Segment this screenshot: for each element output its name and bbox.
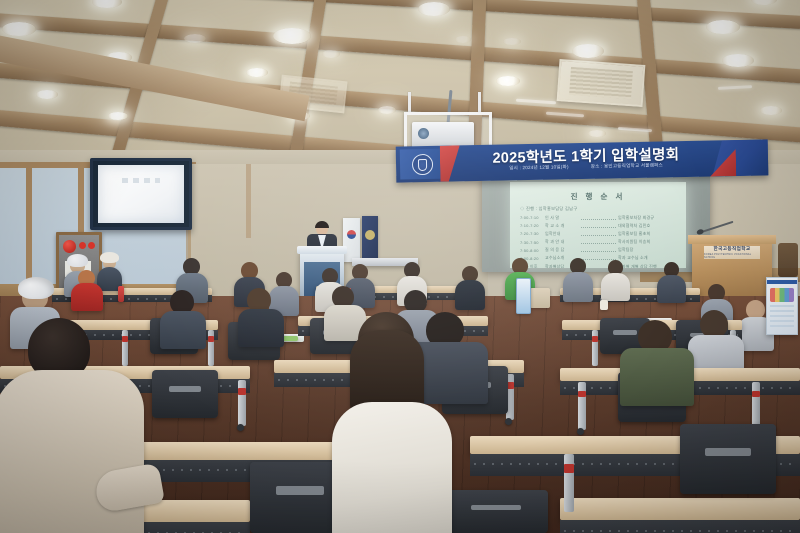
attendee-hat [18,277,54,299]
agenda-item: 학 과 안 내 [545,239,579,245]
desk-leg [122,330,128,366]
ceiling [0,0,800,160]
agenda-time: 7:30-7:50 [520,240,545,245]
leg-accent [122,336,128,341]
chair-handle-slot [471,505,521,510]
alarm-button[interactable] [88,242,95,249]
alarm-button[interactable] [79,242,86,249]
wall-trim-vertical [246,164,251,238]
agenda-row: 7:20-7:30 입학안내 입학홍보팀 홍초희 [520,231,678,237]
agenda-presenter: 학과 교수님 소개 [618,255,678,261]
crest-seal [411,153,432,174]
agenda-presenter: 입학홍보팀 홍초희 [618,231,678,237]
attendee-body [620,348,694,406]
korean-flag [343,218,360,262]
podium-top [688,235,776,244]
banner-date: 일시 : 2024년 12월 10일(화) [509,164,569,171]
banner-graphic [770,288,794,302]
promotional-box [516,278,531,314]
projector-rod [478,92,481,114]
recessed-downlight [184,34,206,43]
recessed-downlight [2,22,36,36]
recessed-downlight [322,50,340,58]
desk-leg [238,380,246,426]
attendee-body [455,280,485,310]
agenda-dots [581,216,616,220]
agenda-item: 질 의 응 답 [545,247,579,253]
ceiling-light-strip [718,85,752,90]
agenda-dots [581,240,616,244]
attendee-body [71,283,103,311]
wooden-podium: 한국고등직업학교 KOREA POLYTECHNIC VOCATIONAL SC… [692,240,772,298]
leg-accent [578,391,586,398]
desk-caster [237,424,244,431]
school-flag [362,216,378,262]
recessed-downlight [108,112,128,120]
recessed-downlight [706,20,740,34]
desk-leg [564,454,574,512]
chair [680,424,776,494]
leg-accent [592,336,598,341]
agenda-presenter: 대외협력처 김민호 [618,223,678,229]
chair-handle-slot [169,386,201,392]
agenda-row: 7:00-7:10 인 사 말 입학홍보처장 최경규 [520,215,678,221]
recessed-downlight [246,68,268,77]
chair-handle-slot [276,486,324,495]
attendee-head [700,310,728,338]
agenda-row: 7:10-7:20 학 교 소 개 대외협력처 김민호 [520,223,678,229]
chair-back [152,370,218,418]
attendee-hat [67,254,88,267]
banner-place: 장소 : 용인고등직업학교 서울캠퍼스 [591,162,663,169]
ceiling-light-strip [516,99,556,105]
agenda-item: 인 사 말 [545,215,579,221]
agenda-header: ◇ 진행 : 입학홍보담당 김남구 [520,206,678,212]
attendee-body [563,272,593,302]
recessed-downlight [722,54,754,67]
desk-caster [577,428,584,435]
agenda-row: 7:30-7:50 학 과 안 내 학사지원팀 이승희 [520,239,678,245]
event-banner: 2025학년도 1학기 입학설명회 일시 : 2024년 12월 10일(화) … [396,139,769,182]
water-bottle [118,286,124,302]
agenda-row: 8:00-8:20 교수님소개 학과 교수님 소개 [520,255,678,261]
ceiling-ac-unit [557,59,646,107]
recessed-downlight [418,2,450,16]
agenda-dots [581,256,616,260]
agenda-row: 8:20 이후 학과별상담 학과별 개별 상담 진행 [520,264,678,268]
recessed-downlight [503,38,521,45]
display-screen [98,165,184,223]
alarm-bell-icon [63,240,76,253]
paper-cup [600,300,608,310]
attendee-body [238,309,284,347]
agenda-presenter: 입학홍보처장 최경규 [618,215,678,221]
agenda-row: 7:50-8:00 질 의 응 답 입학팀장 [520,247,678,253]
chair [444,490,548,533]
presenter-hair [315,221,329,228]
paper-bag [530,288,550,308]
recessed-downlight [751,0,777,5]
agenda-item: 학 교 소 개 [545,223,579,229]
desk-apron [560,520,800,533]
desk-caster [505,418,512,425]
desk-leg [208,330,214,366]
projected-slide: 진 행 순 서 ◇ 진행 : 입학홍보담당 김남구 7:00-7:10 인 사 … [510,182,686,268]
chair-handle-slot [705,448,751,456]
leg-accent [238,388,246,394]
desk [560,498,800,520]
agenda-presenter: 입학팀장 [618,247,678,253]
desk-leg [592,330,598,366]
wall-trim-vertical [26,162,32,290]
side-chair [778,243,798,277]
leg-accent [208,336,214,341]
nameplate-sub: KOREA POLYTECHNIC VOCATIONAL SCHOOL [704,253,760,259]
leg-accent [564,464,574,472]
recessed-downlight [496,76,520,86]
projector-rod [408,92,411,114]
attendee-body [601,273,630,301]
chair-back [444,490,548,533]
agenda-time: 7:00-7:10 [520,215,545,220]
banner-header-bar [767,280,797,284]
lecture-hall-photo: 진 행 순 서 ◇ 진행 : 입학홍보담당 김남구 7:00-7:10 인 사 … [0,0,800,533]
recessed-downlight [588,130,606,137]
slide-agenda: ◇ 진행 : 입학홍보담당 김남구 7:00-7:10 인 사 말 입학홍보처장… [520,206,678,268]
projector-lens [418,128,429,139]
roll-up-banner [766,277,798,335]
nameplate-main: 한국고등직업학교 [713,246,750,252]
recessed-downlight [455,36,471,43]
desk-leg [752,382,760,430]
agenda-dots [581,248,616,252]
agenda-presenter: 학사지원팀 이승희 [618,239,678,245]
attendee-body [160,311,206,349]
slide-title: 진 행 순 서 [510,191,686,202]
recessed-downlight [36,90,58,99]
agenda-dots [581,224,616,228]
chair-handle-slot [613,330,637,334]
chair [152,370,218,418]
attendee-body [657,275,686,303]
podium-nameplate: 한국고등직업학교 KOREA POLYTECHNIC VOCATIONAL SC… [704,246,760,259]
university-crest-icon [400,149,445,180]
agenda-item: 입학안내 [545,231,579,237]
attendee-hat [100,252,119,263]
recessed-downlight [572,44,604,58]
recessed-downlight [92,0,122,8]
desk-leg [578,382,586,430]
chair-back [680,424,776,494]
attendee-body [332,402,452,533]
banner-text-lines [770,305,794,329]
wall-mounted-display [90,158,192,230]
recessed-downlight [760,106,782,115]
recessed-downlight [273,28,311,44]
banner-wedge-red-left [440,145,461,181]
recessed-downlight [378,106,396,114]
agenda-time: 7:10-7:20 [520,223,545,228]
leg-accent [752,391,760,398]
agenda-dots [581,232,616,236]
podium-top [297,246,347,254]
agenda-time: 7:50-8:00 [520,248,545,253]
agenda-time: 7:20-7:30 [520,231,545,236]
